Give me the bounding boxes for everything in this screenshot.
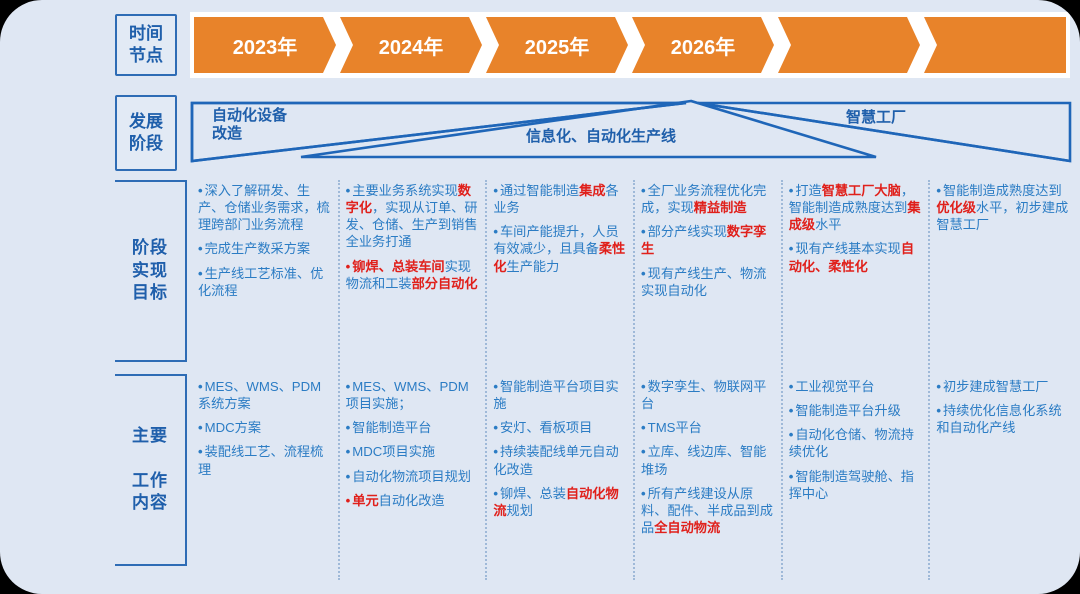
work-cell: •智能制造平台项目实施•安灯、看板项目•持续装配线单元自动化改造•铆焊、总装自动…: [493, 374, 627, 519]
work-bullet: •智能制造平台升级: [789, 402, 923, 419]
goal-cell: •主要业务系统实现数字化，实现从订单、研发、仓储、生产到销售全业务打通•铆焊、总…: [346, 178, 480, 374]
bullet-icon: •: [936, 403, 941, 418]
stage-label-1: 自动化设备 改造: [212, 107, 287, 144]
body-text: 规划: [507, 503, 533, 518]
goal-bullet: •车间产能提升，人员有效减少，且具备柔性化生产能力: [493, 223, 627, 274]
bullet-icon: •: [346, 183, 351, 198]
body-text: 智能制造平台: [352, 420, 431, 435]
body-text: 水平: [815, 217, 841, 232]
work-bullet: •MDC方案: [198, 419, 332, 436]
goal-bullet: •生产线工艺标准、优化流程: [198, 265, 332, 299]
bullet-icon: •: [641, 266, 646, 281]
work-bullet: •安灯、看板项目: [493, 419, 627, 436]
body-text: 铆焊、总装: [500, 486, 566, 501]
timeline-segment-4[interactable]: 2026年: [632, 17, 774, 73]
body-text: 生产线工艺标准、优化流程: [198, 266, 323, 298]
bullet-icon: •: [789, 183, 794, 198]
bullet-icon: •: [641, 379, 646, 394]
bullet-icon: •: [346, 493, 351, 508]
body-text: 装配线工艺、流程梳理: [198, 444, 323, 476]
timeline-segment-5[interactable]: [778, 17, 920, 73]
bullet-icon: •: [493, 224, 498, 239]
body-text: 打造: [795, 183, 821, 198]
content-column-6: •智能制造成熟度达到优化级水平，初步建成智慧工厂•初步建成智慧工厂•持续优化信息…: [928, 178, 1076, 590]
goal-bullet: •全厂业务流程优化完成，实现精益制造: [641, 182, 775, 216]
body-text: 现有产线生产、物流实现自动化: [641, 266, 766, 298]
work-bullet: •初步建成智慧工厂: [936, 378, 1070, 395]
bullet-icon: •: [936, 183, 941, 198]
stage-label-3: 智慧工厂: [846, 109, 906, 127]
body-text: 自动化仓储、物流持续优化: [789, 427, 914, 459]
goal-cell: •深入了解研发、生产、仓储业务需求，梳理跨部门业务流程•完成生产数采方案•生产线…: [198, 178, 332, 374]
work-cell: •MES、WMS、PDM项目实施；•智能制造平台•MDC项目实施•自动化物流项目…: [346, 374, 480, 509]
bullet-icon: •: [198, 266, 203, 281]
timeline-row: 时间 节点 2023年2024年2025年2026年: [0, 14, 1080, 78]
work-bullet: •铆焊、总装自动化物流规划: [493, 485, 627, 519]
goal-bullet: •完成生产数采方案: [198, 240, 332, 257]
body-text: 数字孪生、物联网平台: [641, 379, 766, 411]
body-text: 持续装配线单元自动化改造: [493, 444, 618, 476]
goal-bullet: •智能制造成熟度达到优化级水平，初步建成智慧工厂: [936, 182, 1070, 233]
bullet-icon: •: [493, 420, 498, 435]
body-text: 智能制造成熟度达到: [943, 183, 1062, 198]
bullet-icon: •: [346, 259, 351, 274]
label-time-node: 时间 节点: [115, 14, 177, 76]
body-text: MES、WMS、PDM系统方案: [198, 379, 321, 411]
bullet-icon: •: [936, 379, 941, 394]
work-bullet: •自动化物流项目规划: [346, 468, 480, 485]
body-text: 生产能力: [507, 259, 560, 274]
work-cell: •MES、WMS、PDM系统方案•MDC方案•装配线工艺、流程梳理: [198, 374, 332, 478]
goal-bullet: •主要业务系统实现数字化，实现从订单、研发、仓储、生产到销售全业务打通: [346, 182, 480, 251]
body-text: 通过智能制造: [500, 183, 579, 198]
work-bullet: •智能制造平台: [346, 419, 480, 436]
work-bullet: •所有产线建设从原料、配件、半成品到成品全自动物流: [641, 485, 775, 536]
content-column-5: •打造智慧工厂大脑，智能制造成熟度达到集成级水平•现有产线基本实现自动化、柔性化…: [781, 178, 929, 590]
highlight-text: 单元: [352, 493, 378, 508]
body-text: 主要业务系统实现: [352, 183, 458, 198]
bullet-icon: •: [493, 183, 498, 198]
goal-cell: •智能制造成熟度达到优化级水平，初步建成智慧工厂: [936, 178, 1070, 374]
highlight-text: 全自动物流: [654, 520, 720, 535]
highlight-text: 铆焊、总装车间: [352, 259, 444, 274]
content-area: 阶段 实现 目标 主要 工作 内容 •深入了解研发、生产、仓储业务需求，梳理跨部…: [0, 178, 1080, 590]
body-text: 工业视觉平台: [795, 379, 874, 394]
body-text: 立库、线边库、智能堆场: [641, 444, 766, 476]
goal-cell: •打造智慧工厂大脑，智能制造成熟度达到集成级水平•现有产线基本实现自动化、柔性化: [789, 178, 923, 374]
goal-cell: •通过智能制造集成各业务•车间产能提升，人员有效减少，且具备柔性化生产能力: [493, 178, 627, 374]
body-text: 自动化改造: [379, 493, 445, 508]
timeline-segment-1[interactable]: 2023年: [194, 17, 336, 73]
body-text: MDC方案: [205, 420, 261, 435]
work-bullet: •智能制造驾驶舱、指挥中心: [789, 468, 923, 502]
bullet-icon: •: [346, 379, 351, 394]
bullet-icon: •: [493, 486, 498, 501]
bullet-icon: •: [789, 403, 794, 418]
goal-cell: •全厂业务流程优化完成，实现精益制造•部分产线实现数字孪生•现有产线生产、物流实…: [641, 178, 775, 374]
work-bullet: •自动化仓储、物流持续优化: [789, 426, 923, 460]
bullet-icon: •: [198, 444, 203, 459]
body-text: 持续优化信息化系统和自动化产线: [936, 403, 1061, 435]
content-column-4: •全厂业务流程优化完成，实现精益制造•部分产线实现数字孪生•现有产线生产、物流实…: [633, 178, 781, 590]
goal-bullet: •打造智慧工厂大脑，智能制造成熟度达到集成级水平: [789, 182, 923, 233]
column-container: •深入了解研发、生产、仓储业务需求，梳理跨部门业务流程•完成生产数采方案•生产线…: [190, 178, 1076, 590]
body-text: TMS平台: [648, 420, 702, 435]
work-bullet: •智能制造平台项目实施: [493, 378, 627, 412]
bullet-icon: •: [789, 241, 794, 256]
work-cell: •初步建成智慧工厂•持续优化信息化系统和自动化产线: [936, 374, 1070, 436]
timeline-segment-2[interactable]: 2024年: [340, 17, 482, 73]
body-text: 部分产线实现: [648, 224, 727, 239]
bullet-icon: •: [198, 183, 203, 198]
content-column-3: •通过智能制造集成各业务•车间产能提升，人员有效减少，且具备柔性化生产能力•智能…: [485, 178, 633, 590]
bullet-icon: •: [493, 379, 498, 394]
work-bullet: •单元自动化改造: [346, 492, 480, 509]
work-bullet: •工业视觉平台: [789, 378, 923, 395]
body-text: 智能制造平台项目实施: [493, 379, 618, 411]
body-text: 现有产线基本实现: [795, 241, 901, 256]
work-bullet: •MDC项目实施: [346, 443, 480, 460]
highlight-text: 部分自动化: [412, 276, 478, 291]
timeline-arrow-track: 2023年2024年2025年2026年: [190, 12, 1070, 78]
content-column-1: •深入了解研发、生产、仓储业务需求，梳理跨部门业务流程•完成生产数采方案•生产线…: [190, 178, 338, 590]
timeline-segment-6[interactable]: [924, 17, 1066, 73]
body-text: 安灯、看板项目: [500, 420, 592, 435]
body-text: 深入了解研发、生产、仓储业务需求，梳理跨部门业务流程: [198, 183, 330, 232]
bullet-icon: •: [641, 224, 646, 239]
body-text: 自动化物流项目规划: [352, 469, 471, 484]
body-text: 完成生产数采方案: [205, 241, 311, 256]
goal-bullet: •现有产线生产、物流实现自动化: [641, 265, 775, 299]
bullet-icon: •: [641, 420, 646, 435]
work-cell: •工业视觉平台•智能制造平台升级•自动化仓储、物流持续优化•智能制造驾驶舱、指挥…: [789, 374, 923, 502]
bullet-icon: •: [346, 469, 351, 484]
bullet-icon: •: [346, 444, 351, 459]
bullet-icon: •: [346, 420, 351, 435]
bullet-icon: •: [641, 486, 646, 501]
goal-bullet: •深入了解研发、生产、仓储业务需求，梳理跨部门业务流程: [198, 182, 332, 233]
body-text: MDC项目实施: [352, 444, 435, 459]
goal-bullet: •现有产线基本实现自动化、柔性化: [789, 240, 923, 274]
work-bullet: •数字孪生、物联网平台: [641, 378, 775, 412]
body-text: 智能制造驾驶舱、指挥中心: [789, 469, 914, 501]
body-text: 初步建成智慧工厂: [943, 379, 1049, 394]
label-main-work: 主要 工作 内容: [115, 374, 187, 566]
work-bullet: •TMS平台: [641, 419, 775, 436]
development-stage-row: 发展 阶段 自动化设备 改造 信息化、自动化生产线 智慧工厂: [0, 95, 1080, 175]
work-bullet: •持续优化信息化系统和自动化产线: [936, 402, 1070, 436]
goal-bullet: •部分产线实现数字孪生: [641, 223, 775, 257]
stage-diagram: 自动化设备 改造 信息化、自动化生产线 智慧工厂: [186, 95, 1076, 175]
bullet-icon: •: [789, 427, 794, 442]
work-cell: •数字孪生、物联网平台•TMS平台•立库、线边库、智能堆场•所有产线建设从原料、…: [641, 374, 775, 536]
content-column-2: •主要业务系统实现数字化，实现从订单、研发、仓储、生产到销售全业务打通•铆焊、总…: [338, 178, 486, 590]
bullet-icon: •: [198, 420, 203, 435]
goal-bullet: •通过智能制造集成各业务: [493, 182, 627, 216]
highlight-text: 优化级: [936, 200, 976, 215]
label-development-stage: 发展 阶段: [115, 95, 177, 171]
highlight-text: 智慧工厂大脑: [822, 183, 901, 198]
bullet-icon: •: [789, 379, 794, 394]
bullet-icon: •: [641, 444, 646, 459]
stage-label-2: 信息化、自动化生产线: [526, 128, 676, 146]
work-bullet: •装配线工艺、流程梳理: [198, 443, 332, 477]
timeline-segment-3[interactable]: 2025年: [486, 17, 628, 73]
work-bullet: •MES、WMS、PDM系统方案: [198, 378, 332, 412]
goal-bullet: •铆焊、总装车间实现物流和工装部分自动化: [346, 258, 480, 292]
bullet-icon: •: [198, 379, 203, 394]
highlight-text: 精益制造: [694, 200, 747, 215]
bullet-icon: •: [493, 444, 498, 459]
body-text: 智能制造平台升级: [795, 403, 901, 418]
highlight-text: 集成: [579, 183, 605, 198]
work-bullet: •立库、线边库、智能堆场: [641, 443, 775, 477]
body-text: MES、WMS、PDM项目实施；: [346, 379, 469, 411]
work-bullet: •持续装配线单元自动化改造: [493, 443, 627, 477]
bullet-icon: •: [789, 469, 794, 484]
work-bullet: •MES、WMS、PDM项目实施；: [346, 378, 480, 412]
bullet-icon: •: [641, 183, 646, 198]
roadmap-slide: 时间 节点 2023年2024年2025年2026年 发展 阶段 自动化设备 改…: [0, 0, 1080, 594]
bullet-icon: •: [198, 241, 203, 256]
label-stage-goal: 阶段 实现 目标: [115, 180, 187, 362]
